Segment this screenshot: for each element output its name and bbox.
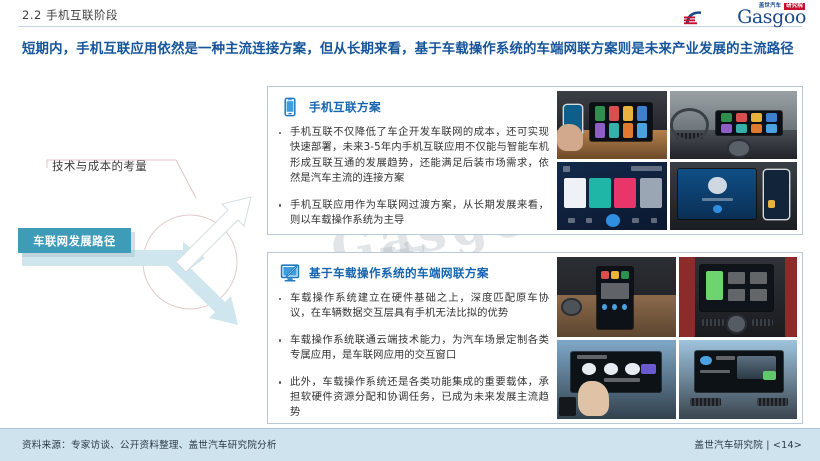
photo-compact-infotainment-screen <box>679 257 798 337</box>
card-vehicle-os-connection: 基于车载操作系统的车端网联方案 车载操作系统建立在硬件基础之上，深度匹配原车协议… <box>267 252 803 424</box>
monitor-pen-icon <box>280 263 300 283</box>
card-mobile-photos <box>555 87 802 234</box>
photo-row-top <box>557 257 797 337</box>
photo-vertical-center-console-screen <box>557 257 676 337</box>
roadmap-chip: 车联网发展路径 <box>18 228 131 253</box>
list-item: 手机互联不仅降低了车企开发车联网的成本，还可实现快速部署，未来3-5年内手机互联… <box>276 125 549 187</box>
card-os-photos <box>555 253 802 423</box>
list-item: 此外，车载操作系统还是各类功能集成的重要载体，承担软硬件资源分配和协调任务，已成… <box>276 375 549 421</box>
card-os-text: 基于车载操作系统的车端网联方案 车载操作系统建立在硬件基础之上，深度匹配原车协议… <box>268 253 555 423</box>
photo-widescreen-navigation-display <box>679 340 798 420</box>
list-item: 车载操作系统建立在硬件基础之上，深度匹配原车协议，在车辆数据交互层具有手机无法比… <box>276 291 549 322</box>
card-os-header: 基于车载操作系统的车端网联方案 <box>276 259 549 287</box>
card-mobile-bullet-list: 手机互联不仅降低了车企开发车联网的成本，还可实现快速部署，未来3-5年内手机互联… <box>276 125 549 228</box>
slide-canvas: 2.2 手机互联阶段 盖世汽车 研究院 Gasgoo 短期内，手机互联应用依然是… <box>0 0 820 461</box>
branching-arrow-diagram <box>0 150 268 380</box>
card-mobile-connection: 手机互联方案 手机互联不仅降低了车企开发车联网的成本，还可实现快速部署，未来3-… <box>267 86 803 235</box>
card-mobile-header: 手机互联方案 <box>276 93 549 121</box>
photo-row-top <box>557 91 797 159</box>
gasgoo-logo: 盖世汽车 研究院 Gasgoo <box>684 3 806 27</box>
photo-phone-mirroring-to-head-unit <box>557 91 667 159</box>
logo-mark-icon <box>684 9 710 26</box>
card-os-bullet-list: 车载操作系统建立在硬件基础之上，深度匹配原车协议，在车辆数据交互层具有手机无法比… <box>276 291 549 421</box>
card-mobile-text: 手机互联方案 手机互联不仅降低了车企开发车联网的成本，还可实现快速部署，未来3-… <box>268 87 555 234</box>
photo-driver-touching-widescreen-display <box>557 340 676 420</box>
photo-row-bottom <box>557 340 797 420</box>
photo-carplay-dashboard-screen <box>670 91 797 159</box>
photo-row-bottom <box>557 162 797 230</box>
photo-rear-seat-entertainment-screen <box>670 162 797 230</box>
list-item: 手机互联应用作为车联网过渡方案，从长期发展来看，则以车载操作系统为主导 <box>276 198 549 229</box>
slide-section-kicker: 2.2 手机互联阶段 <box>22 7 118 23</box>
footer-source-note: 资料来源：专家访谈、公开资料整理、盖世汽车研究院分析 <box>22 437 277 451</box>
list-item: 车载操作系统联通云端技术能力，为汽车场景定制各类专属应用，是车联网应用的交互窗口 <box>276 333 549 364</box>
photo-android-auto-launcher-ui <box>557 162 667 230</box>
diagram-svg <box>0 150 268 380</box>
arrow-branch-down <box>166 254 238 325</box>
page-title: 短期内，手机互联应用依然是一种主流连接方案，但从长期来看，基于车载操作系统的车端… <box>22 40 804 60</box>
card-mobile-title: 手机互联方案 <box>309 99 381 115</box>
smartphone-icon <box>280 97 300 117</box>
diagram-annotation-label: 技术与成本的考量 <box>52 158 147 174</box>
logo-wordmark: Gasgoo <box>737 8 806 27</box>
footer-page-meta: 盖世汽车研究院 | <14> <box>694 437 802 451</box>
card-os-title: 基于车载操作系统的车端网联方案 <box>309 265 489 281</box>
arrow-branch-up <box>176 197 251 272</box>
